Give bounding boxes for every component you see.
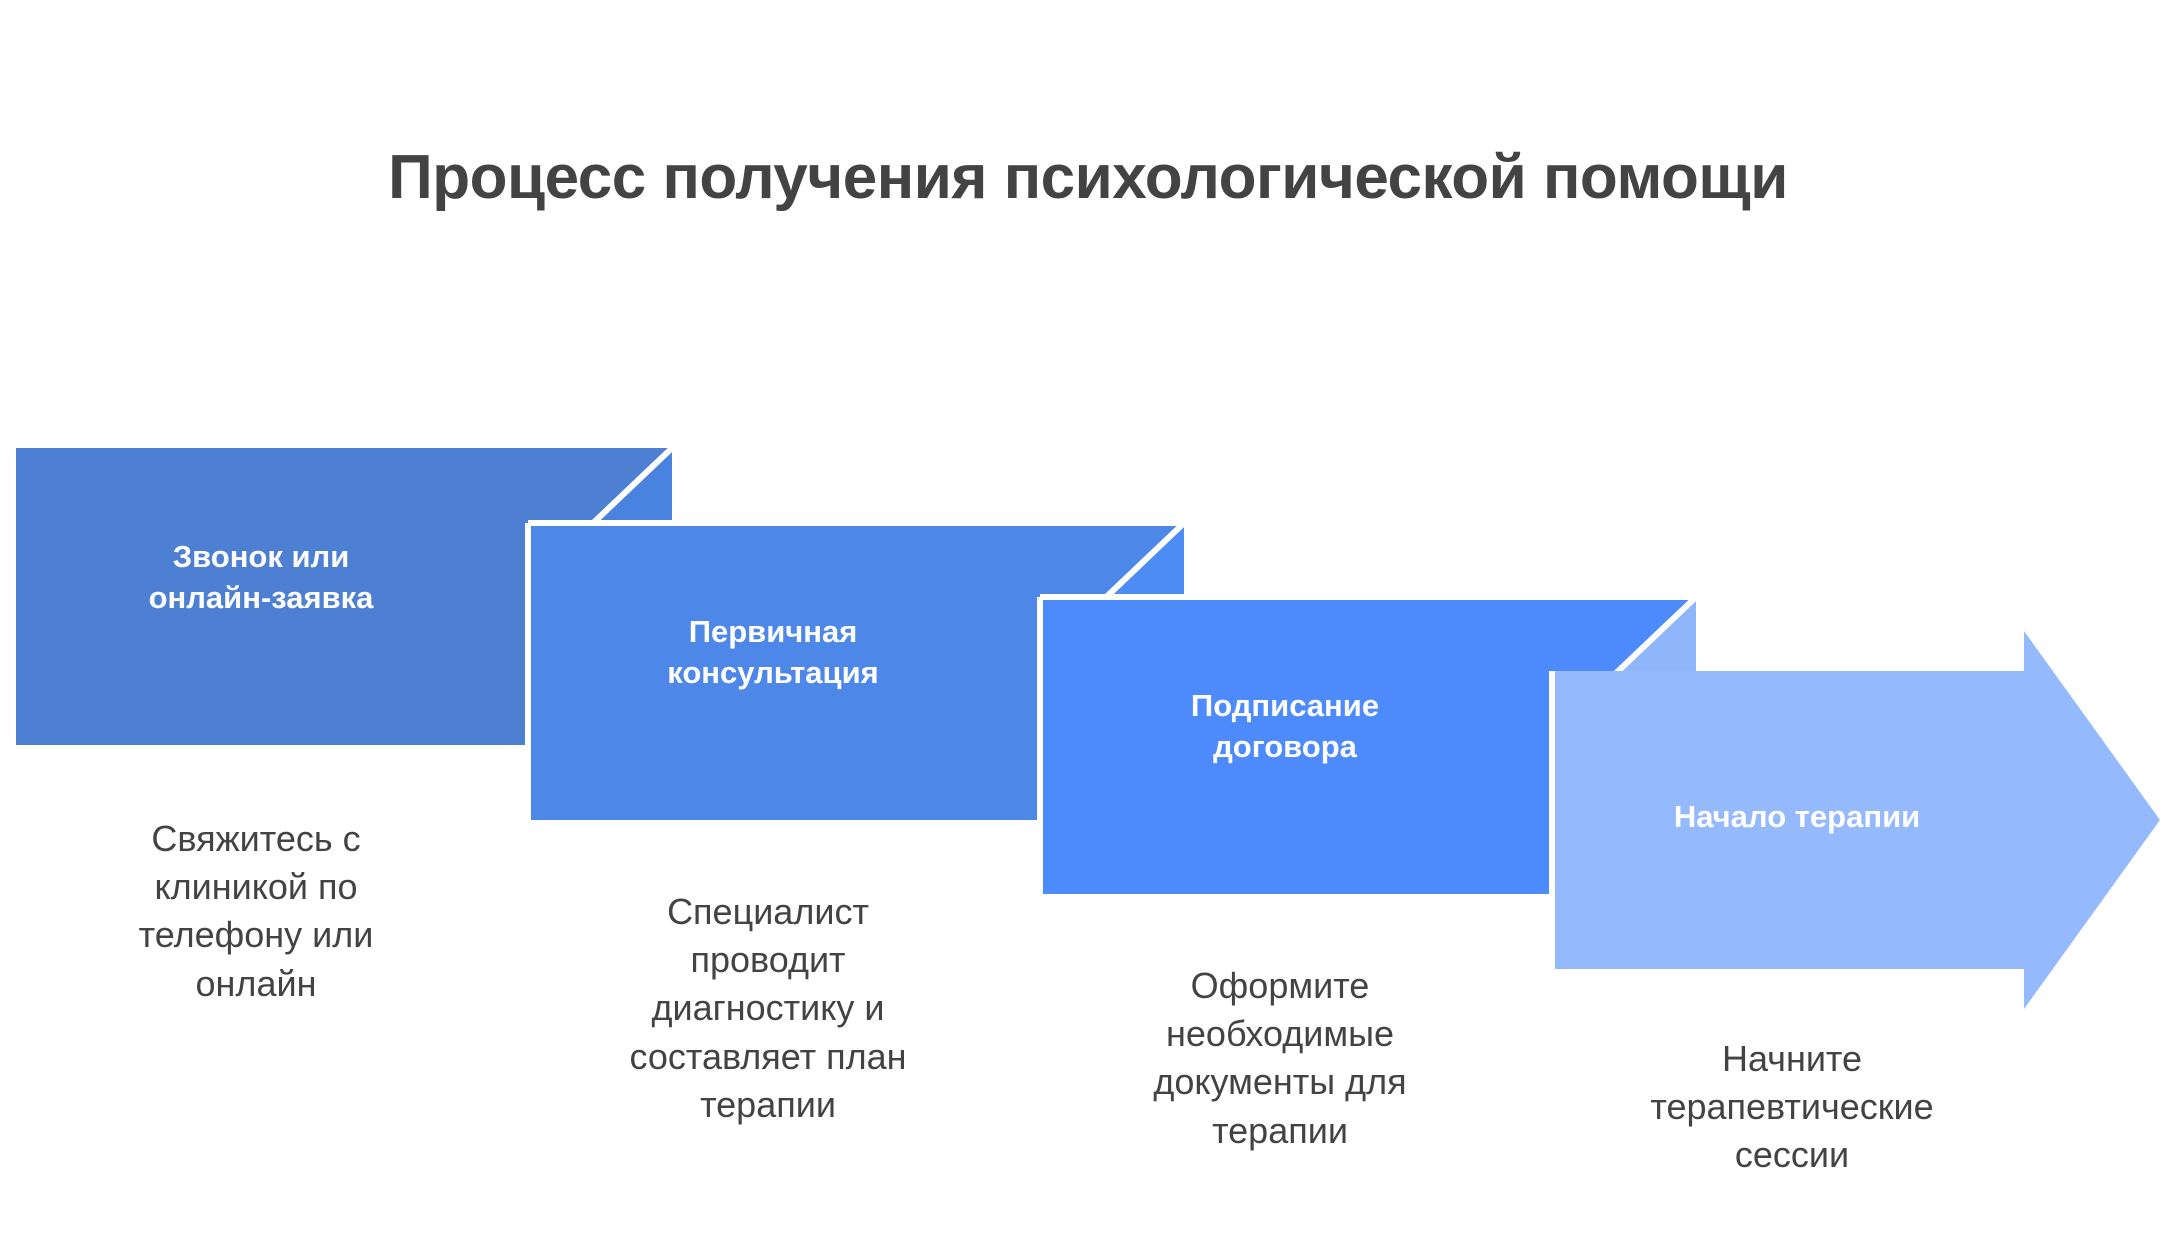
process-step-2-caption: Специалист проводит диагностику и состав… (568, 888, 968, 1129)
process-step-4-shape[interactable] (1552, 631, 2160, 1009)
step-4-arrow-body (1552, 631, 2160, 1009)
process-step-1-caption: Свяжитесь с клиникой по телефону или онл… (56, 815, 456, 1008)
process-step-3-caption: Оформите необходимые документы для терап… (1080, 962, 1480, 1155)
slide-canvas: Процесс получения психологической помощи (0, 0, 2176, 1256)
process-diagram: Звонок или онлайн-заявка Первичная консу… (0, 0, 2176, 1256)
process-step-4-caption: Начните терапевтические сессии (1592, 1035, 1992, 1180)
